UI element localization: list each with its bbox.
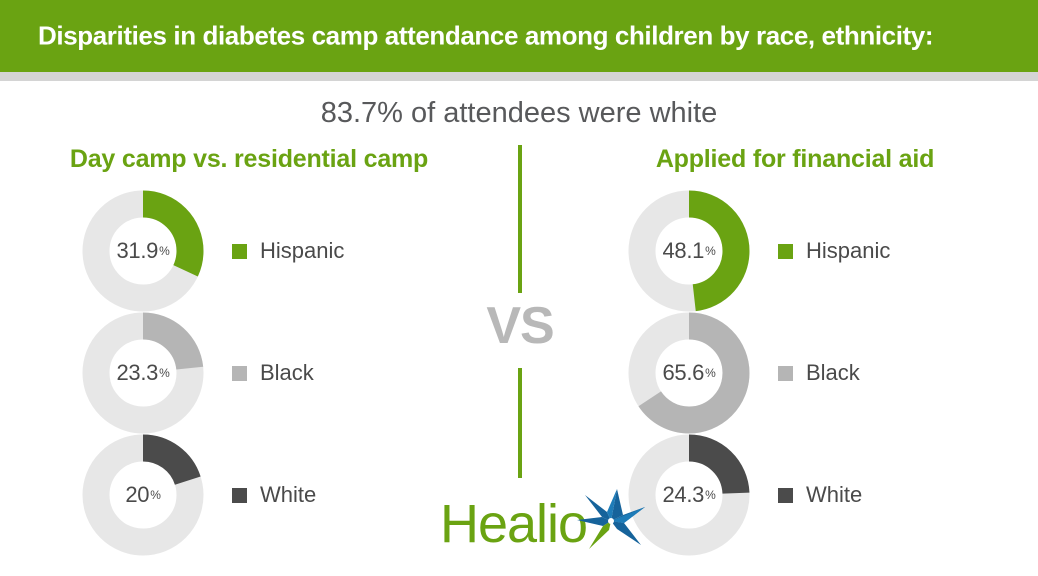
divider-line-top	[518, 145, 522, 293]
donut-value: 31.9	[117, 238, 159, 264]
legend-label: White	[806, 482, 862, 508]
percent-sign: %	[705, 366, 715, 380]
header-bar: Disparities in diabetes camp attendance …	[0, 0, 1038, 72]
legend-swatch-icon	[232, 366, 247, 381]
legend-item-hispanic-right: Hispanic	[778, 238, 890, 264]
legend-item-white-right: White	[778, 482, 862, 508]
donut-row: 23.3% Black	[14, 312, 484, 434]
percent-sign: %	[705, 244, 715, 258]
donut-row: 65.6% Black	[560, 312, 1030, 434]
donut-value-label: 20%	[82, 434, 204, 556]
legend-item-white-left: White	[232, 482, 316, 508]
chart-title-left: Day camp vs. residential camp	[14, 145, 484, 174]
subtitle: 83.7% of attendees were white	[0, 97, 1038, 130]
legend-swatch-icon	[778, 366, 793, 381]
page-title: Disparities in diabetes camp attendance …	[38, 21, 933, 52]
legend-swatch-icon	[778, 244, 793, 259]
divider-line-bottom	[518, 368, 522, 478]
percent-sign: %	[705, 488, 715, 502]
healio-wordmark: Healio	[440, 497, 587, 551]
donut-chart-right-hispanic: 48.1%	[628, 190, 750, 312]
donut-row: 20% White	[14, 434, 484, 556]
donut-chart-left-hispanic: 31.9%	[82, 190, 204, 312]
donut-value-label: 65.6%	[628, 312, 750, 434]
legend-label: Black	[806, 360, 860, 386]
donut-chart-right-black: 65.6%	[628, 312, 750, 434]
donut-value: 48.1	[663, 238, 705, 264]
donut-chart-left-white: 20%	[82, 434, 204, 556]
donut-value: 65.6	[663, 360, 705, 386]
legend-swatch-icon	[778, 488, 793, 503]
legend-swatch-icon	[232, 244, 247, 259]
donut-value-label: 23.3%	[82, 312, 204, 434]
donut-value-label: 31.9%	[82, 190, 204, 312]
healio-star-icon	[572, 485, 650, 555]
legend-label: Hispanic	[806, 238, 890, 264]
percent-sign: %	[159, 244, 169, 258]
donut-value-label: 48.1%	[628, 190, 750, 312]
legend-label: White	[260, 482, 316, 508]
donut-value: 23.3	[117, 360, 159, 386]
healio-logo: Healio	[440, 489, 650, 559]
donut-row: 48.1% Hispanic	[560, 190, 1030, 312]
legend-item-hispanic-left: Hispanic	[232, 238, 344, 264]
donut-value: 24.3	[663, 482, 705, 508]
percent-sign: %	[150, 488, 160, 502]
donut-row: 31.9% Hispanic	[14, 190, 484, 312]
legend-label: Black	[260, 360, 314, 386]
legend-item-black-right: Black	[778, 360, 860, 386]
chart-title-right: Applied for financial aid	[560, 145, 1030, 174]
chart-panel-day-camp: Day camp vs. residential camp 31.9% Hisp…	[14, 145, 484, 174]
legend-item-black-left: Black	[232, 360, 314, 386]
donut-value: 20	[125, 482, 149, 508]
vs-label: VS	[470, 296, 570, 356]
percent-sign: %	[159, 366, 169, 380]
legend-label: Hispanic	[260, 238, 344, 264]
header-underline-band	[0, 72, 1038, 81]
legend-swatch-icon	[232, 488, 247, 503]
chart-panel-financial-aid: Applied for financial aid 48.1% Hispanic…	[560, 145, 1030, 174]
donut-chart-left-black: 23.3%	[82, 312, 204, 434]
